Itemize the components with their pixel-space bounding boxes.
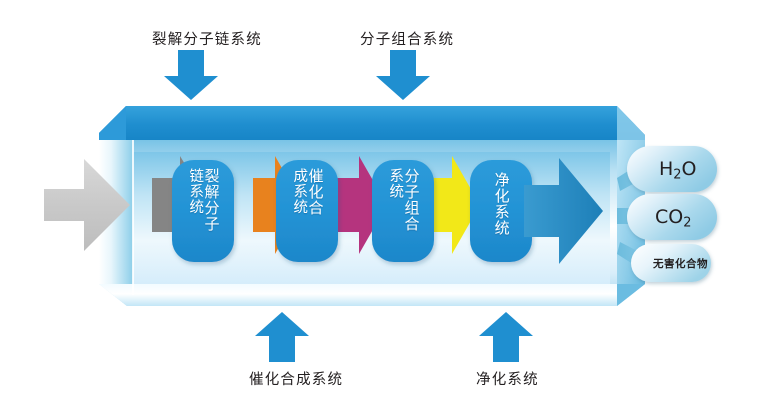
stage-label-3-col-left: 系统 <box>387 168 402 199</box>
stage-label-1: 裂解分子 链系统 <box>172 168 234 258</box>
output-label-harmless: 无害化合物 <box>653 256 708 271</box>
output-label-harmless-main: 无害化合物 <box>653 258 708 270</box>
bottom-input-arrow-2 <box>479 312 533 362</box>
top-input-arrow-1 <box>164 50 218 100</box>
diagram-canvas: 裂解分子链系统 分子组合系统 催化合成系统 净化系统 裂解分子 链系统 催化合 … <box>0 0 769 404</box>
stage-label-4: 净化系统 <box>470 172 532 262</box>
chamber-top-face <box>99 106 645 140</box>
stage-label-3-col-right: 分子组合 <box>403 168 418 232</box>
callout-label-purification: 净化系统 <box>476 368 539 389</box>
output-label-co2-sub: 2 <box>683 216 691 231</box>
stage-label-3: 分子组合 系统 <box>372 168 434 258</box>
stage-label-2: 催化合 成系统 <box>276 168 338 258</box>
stage-label-2-col-left: 成系统 <box>291 168 306 215</box>
callout-label-catalytic: 催化合成系统 <box>249 368 343 389</box>
stage-label-4-col-right: 净化系统 <box>493 172 508 236</box>
output-label-water-sub: 2 <box>673 168 681 183</box>
bottom-input-arrow-1 <box>255 312 309 362</box>
output-label-water-tail: O <box>682 158 697 180</box>
callout-label-cracking: 裂解分子链系统 <box>152 28 262 49</box>
stage-label-1-col-left: 链系统 <box>187 168 202 215</box>
stage-label-2-col-right: 催化合 <box>307 168 322 216</box>
output-label-water-main: H <box>659 158 673 180</box>
top-input-arrow-2 <box>376 50 430 100</box>
output-label-co2-main: CO <box>655 206 683 228</box>
stage-label-1-col-right: 裂解分子 <box>203 168 218 232</box>
output-label-water: H2O <box>659 158 696 183</box>
callout-label-recombination: 分子组合系统 <box>360 28 454 49</box>
output-label-co2: CO2 <box>655 206 691 231</box>
